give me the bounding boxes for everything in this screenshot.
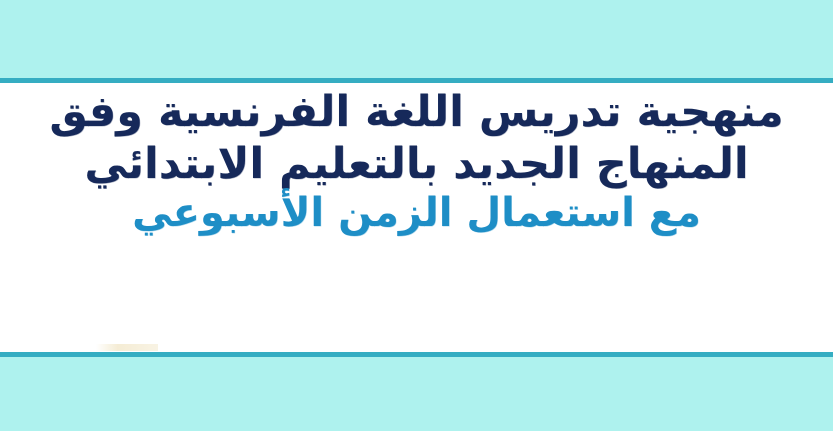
bottom-decorative-band [0, 357, 833, 431]
poster-banner: منهجية تدريس اللغة الفرنسية وفق المنهاج … [0, 0, 833, 431]
headline-block: منهجية تدريس اللغة الفرنسية وفق المنهاج … [10, 87, 823, 235]
top-decorative-band [0, 0, 833, 78]
headline-line-3-subtitle: مع استعمال الزمن الأسبوعي [10, 192, 823, 235]
headline-line-1: منهجية تدريس اللغة الفرنسية وفق [10, 89, 823, 135]
headline-line-2: المنهاج الجديد بالتعليم الابتدائي [10, 141, 823, 187]
headline-card: منهجية تدريس اللغة الفرنسية وفق المنهاج … [0, 83, 833, 352]
